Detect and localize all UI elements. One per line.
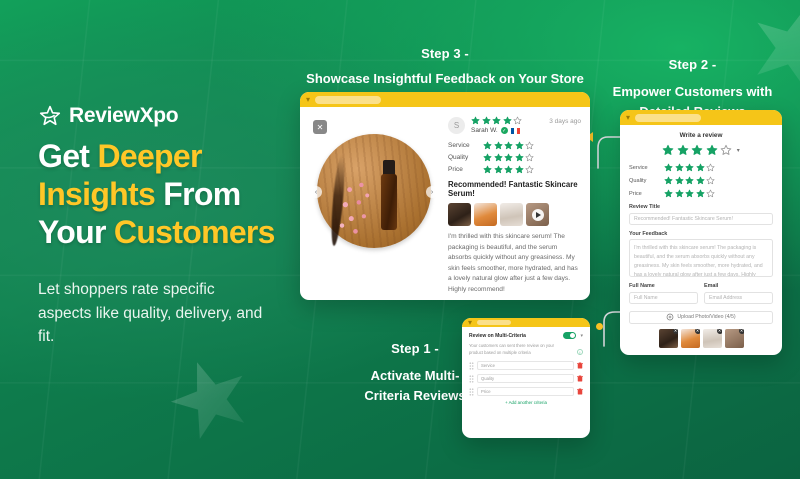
reviewer-name-row: Sarah W. ✓ <box>471 127 543 134</box>
criteria-ratings-list: ServiceQualityPrice <box>448 141 581 174</box>
drag-handle-icon[interactable] <box>469 362 474 370</box>
close-icon[interactable]: ✕ <box>313 120 327 134</box>
hero-subcopy: Let shoppers rate specific aspects like … <box>38 278 268 349</box>
criteria-stars <box>483 153 534 162</box>
criteria-stars[interactable] <box>664 189 715 198</box>
close-icon[interactable]: ✕ <box>739 329 744 334</box>
review-media-thumbnails[interactable] <box>448 203 581 226</box>
multi-criteria-settings-card: ▾ Review on Multi-Criteria ▾ Your custom… <box>462 318 590 438</box>
settings-description: Your customers can sent there review on … <box>469 342 557 356</box>
criteria-stars[interactable] <box>664 163 715 172</box>
chevron-down-icon[interactable]: ▾ <box>468 319 472 327</box>
review-date: 3 days ago <box>549 118 581 125</box>
star-icon[interactable] <box>664 163 673 172</box>
criteria-rating-picker-row[interactable]: Quality <box>629 176 773 185</box>
criteria-stars <box>483 141 534 150</box>
titlebar-placeholder <box>315 96 381 104</box>
star-icon[interactable] <box>706 189 715 198</box>
review-showcase-card: ▾ ✕ ‹ › S Sarah W. <box>300 92 590 300</box>
headline-line2-plain: From <box>155 176 240 212</box>
uploaded-media-item-video[interactable]: ✕ <box>725 329 744 348</box>
add-criteria-button[interactable]: + Add another criteria <box>469 400 583 405</box>
review-title-label: Review Title <box>629 204 773 210</box>
star-icon[interactable] <box>662 144 674 156</box>
star-icon[interactable] <box>685 189 694 198</box>
titlebar-placeholder <box>477 320 511 325</box>
star-swoosh-icon <box>38 104 62 128</box>
chevron-down-icon[interactable]: ▾ <box>626 114 630 122</box>
brand-name: ReviewXpo <box>69 104 178 128</box>
star-icon[interactable] <box>515 153 524 162</box>
star-icon[interactable] <box>685 163 694 172</box>
upload-label: Upload Photo/Video (4/5) <box>677 314 735 320</box>
criteria-row[interactable]: Service <box>469 361 583 370</box>
star-icon[interactable] <box>675 176 684 185</box>
star-icon[interactable] <box>696 176 705 185</box>
criteria-rating-row: Price <box>448 165 581 174</box>
star-icon[interactable] <box>494 153 503 162</box>
review-body: I'm thrilled with this skincare serum! T… <box>448 232 581 295</box>
media-thumbnail[interactable] <box>500 203 523 226</box>
criteria-stars[interactable] <box>664 176 715 185</box>
headline-line3-accent: Customers <box>114 214 275 250</box>
trash-icon[interactable] <box>577 362 583 369</box>
star-icon[interactable] <box>685 176 694 185</box>
brand-logo: ReviewXpo <box>38 104 178 128</box>
trash-icon[interactable] <box>577 388 583 395</box>
step-1-description: Activate Multi-Criteria Reviews <box>360 366 470 405</box>
star-icon[interactable] <box>525 153 534 162</box>
avatar: S <box>448 117 465 134</box>
chevron-right-icon[interactable]: › <box>426 186 438 198</box>
star-icon[interactable] <box>513 116 522 125</box>
email-input[interactable]: Email Address <box>704 292 773 304</box>
step-1-number: Step 1 - <box>391 341 439 356</box>
uploaded-media-item[interactable]: ✕ <box>703 329 722 348</box>
star-icon[interactable] <box>515 165 524 174</box>
media-thumbnail[interactable] <box>448 203 471 226</box>
card-titlebar: ▾ <box>300 92 590 107</box>
step-1-label: Step 1 - Activate Multi-Criteria Reviews <box>360 340 470 405</box>
reviewer-name: Sarah W. <box>471 127 498 134</box>
star-icon[interactable] <box>482 116 491 125</box>
media-thumbnail-video[interactable] <box>526 203 549 226</box>
criteria-rating-row: Service <box>448 141 581 150</box>
full-name-label: Full Name <box>629 283 698 289</box>
play-icon <box>526 203 549 226</box>
criteria-label: Quality <box>629 178 655 184</box>
headline-line1-plain: Get <box>38 138 97 174</box>
criteria-name-input[interactable]: Service <box>477 361 574 370</box>
star-icon[interactable] <box>494 165 503 174</box>
overall-rating-picker[interactable]: ▾ <box>629 144 773 156</box>
star-icon[interactable] <box>483 153 492 162</box>
star-icon[interactable] <box>720 144 732 156</box>
verified-check-icon: ✓ <box>501 127 508 134</box>
star-icon[interactable] <box>664 189 673 198</box>
chevron-down-icon[interactable]: ▾ <box>737 147 740 154</box>
star-icon[interactable] <box>483 141 492 150</box>
settings-title: Review on Multi-Criteria <box>469 333 559 339</box>
feedback-label: Your Feedback <box>629 231 773 237</box>
settings-header: Review on Multi-Criteria ▾ <box>469 332 583 339</box>
info-icon[interactable]: i <box>577 349 583 355</box>
criteria-stars <box>483 165 534 174</box>
page-title: Get Deeper Insights From Your Customers <box>38 138 338 251</box>
headline-line3-plain: Your <box>38 214 114 250</box>
titlebar-placeholder <box>635 114 701 122</box>
step-3-description: Showcase Insightful Feedback on Your Sto… <box>300 69 590 89</box>
uploaded-media-item[interactable]: ✕ <box>681 329 700 348</box>
headline-line2-accent: Insights <box>38 176 155 212</box>
multi-criteria-toggle[interactable] <box>563 332 576 339</box>
star-icon[interactable] <box>494 141 503 150</box>
trash-icon[interactable] <box>577 375 583 382</box>
promo-banner: ReviewXpo Get Deeper Insights From Your … <box>0 0 800 479</box>
overall-rating-stars <box>471 116 543 125</box>
upload-icon <box>666 313 674 321</box>
star-icon[interactable] <box>525 141 534 150</box>
criteria-name-input[interactable]: Price <box>477 387 574 396</box>
uploaded-media-item[interactable]: ✕ <box>659 329 678 348</box>
drag-handle-icon[interactable] <box>469 388 474 396</box>
close-icon[interactable]: ✕ <box>695 329 700 334</box>
star-icon[interactable] <box>504 153 513 162</box>
overall-rating-stars[interactable] <box>662 144 732 156</box>
criteria-label: Price <box>448 166 476 173</box>
star-icon[interactable] <box>675 189 684 198</box>
chevron-down-icon[interactable]: ▾ <box>306 96 310 104</box>
criteria-row[interactable]: Quality <box>469 374 583 383</box>
star-icon[interactable] <box>691 144 703 156</box>
feedback-textarea[interactable]: I'm thrilled with this skincare serum! T… <box>629 239 773 277</box>
upload-media-button[interactable]: Upload Photo/Video (4/5) <box>629 311 773 324</box>
card-titlebar: ▾ <box>620 110 782 125</box>
star-icon[interactable] <box>525 165 534 174</box>
criteria-rating-pickers[interactable]: ServiceQualityPrice <box>629 163 773 198</box>
review-title-input[interactable]: Recommended! Fantastic Skincare Serum! <box>629 213 773 225</box>
star-icon[interactable] <box>696 189 705 198</box>
connector-dot <box>596 323 603 330</box>
star-icon[interactable] <box>492 116 501 125</box>
write-review-form-card: ▾ Write a review ▾ ServiceQualityPrice R… <box>620 110 782 355</box>
email-label: Email <box>704 283 773 289</box>
form-title: Write a review <box>629 132 773 139</box>
review-title: Recommended! Fantastic Skincare Serum! <box>448 180 581 198</box>
step-3-label: Step 3 - Showcase Insightful Feedback on… <box>300 46 590 89</box>
criteria-rating-row: Quality <box>448 153 581 162</box>
criteria-label: Service <box>629 165 655 171</box>
criteria-rating-picker-row[interactable]: Service <box>629 163 773 172</box>
drag-handle-icon[interactable] <box>469 375 474 383</box>
chevron-down-icon[interactable]: ▾ <box>580 333 583 339</box>
criteria-rating-picker-row[interactable]: Price <box>629 189 773 198</box>
star-icon <box>161 349 258 446</box>
pink-flowers <box>337 178 379 236</box>
star-icon[interactable] <box>706 163 715 172</box>
chevron-left-icon[interactable]: ‹ <box>310 186 322 198</box>
criteria-label: Price <box>629 191 655 197</box>
star-icon[interactable] <box>504 141 513 150</box>
criteria-rows: ServiceQualityPrice <box>469 361 583 396</box>
star-icon[interactable] <box>664 176 673 185</box>
criteria-label: Quality <box>448 154 476 161</box>
serum-bottle <box>381 174 397 230</box>
star-icon[interactable] <box>483 165 492 174</box>
media-thumbnail[interactable] <box>474 203 497 226</box>
star-icon[interactable] <box>706 176 715 185</box>
criteria-label: Service <box>448 142 476 149</box>
step-3-number: Step 3 - <box>300 46 590 61</box>
criteria-name-input[interactable]: Quality <box>477 374 574 383</box>
criteria-row[interactable]: Price <box>469 387 583 396</box>
review-product-photo[interactable]: ✕ ‹ › <box>309 116 439 276</box>
headline-line1-accent: Deeper <box>97 138 201 174</box>
star-icon[interactable] <box>706 144 718 156</box>
star-icon[interactable] <box>696 163 705 172</box>
star-icon[interactable] <box>677 144 689 156</box>
france-flag-icon <box>511 128 520 134</box>
star-icon[interactable] <box>504 165 513 174</box>
uploaded-media-list: ✕ ✕ ✕ ✕ <box>629 329 773 348</box>
star-icon[interactable] <box>515 141 524 150</box>
card-titlebar: ▾ <box>462 318 590 327</box>
step-2-number: Step 2 - <box>669 57 717 72</box>
star-icon[interactable] <box>675 163 684 172</box>
close-icon[interactable]: ✕ <box>673 329 678 334</box>
star-icon[interactable] <box>471 116 480 125</box>
close-icon[interactable]: ✕ <box>717 329 722 334</box>
full-name-input[interactable]: Full Name <box>629 292 698 304</box>
star-icon[interactable] <box>503 116 512 125</box>
